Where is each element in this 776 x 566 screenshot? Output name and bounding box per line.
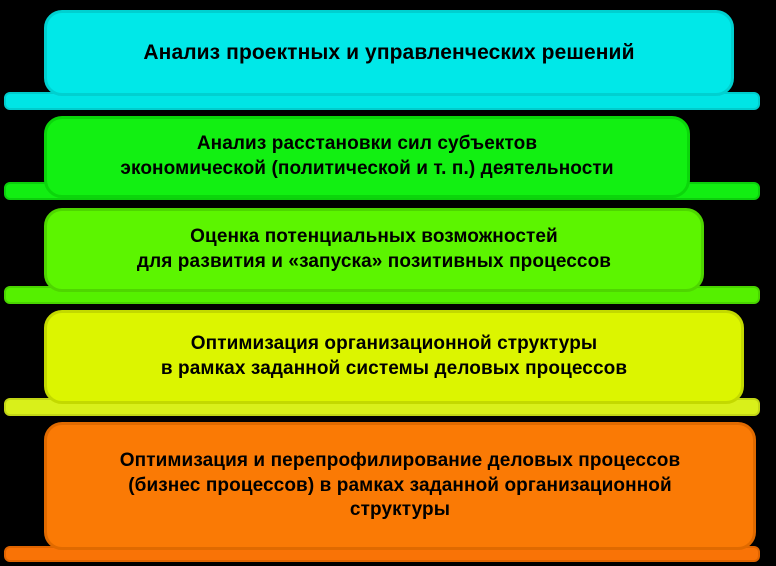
level-4-line-2: в рамках заданной системы деловых процес…	[61, 357, 727, 382]
level-5-line-2: (бизнес процессов) в рамках заданной орг…	[61, 474, 739, 499]
level-5-line-1: Оптимизация и перепрофилирование деловых…	[61, 449, 739, 474]
diagram-canvas: Анализ проектных и управленческих решени…	[0, 0, 776, 566]
level-1-box[interactable]: Анализ проектных и управленческих решени…	[44, 10, 734, 96]
level-1-line-1: Анализ проектных и управленческих решени…	[61, 39, 717, 66]
level-2-text: Анализ расстановки сил субъектов экономи…	[61, 132, 673, 181]
level-4-box[interactable]: Оптимизация организационной структуры в …	[44, 310, 744, 404]
level-5-text: Оптимизация и перепрофилирование деловых…	[61, 449, 739, 523]
level-2-line-1: Анализ расстановки сил субъектов	[61, 132, 673, 157]
level-3-line-2: для развития и «запуска» позитивных проц…	[61, 250, 687, 275]
level-4-text: Оптимизация организационной структуры в …	[61, 332, 727, 381]
level-1-text: Анализ проектных и управленческих решени…	[61, 39, 717, 66]
level-3-line-1: Оценка потенциальных возможностей	[61, 225, 687, 250]
level-5-box[interactable]: Оптимизация и перепрофилирование деловых…	[44, 422, 756, 550]
level-3-text: Оценка потенциальных возможностей для ра…	[61, 225, 687, 274]
level-5-line-3: структуры	[61, 498, 739, 523]
level-4-line-1: Оптимизация организационной структуры	[61, 332, 727, 357]
level-2-box[interactable]: Анализ расстановки сил субъектов экономи…	[44, 116, 690, 198]
level-3-box[interactable]: Оценка потенциальных возможностей для ра…	[44, 208, 704, 292]
level-2-line-2: экономической (политической и т. п.) дея…	[61, 157, 673, 182]
